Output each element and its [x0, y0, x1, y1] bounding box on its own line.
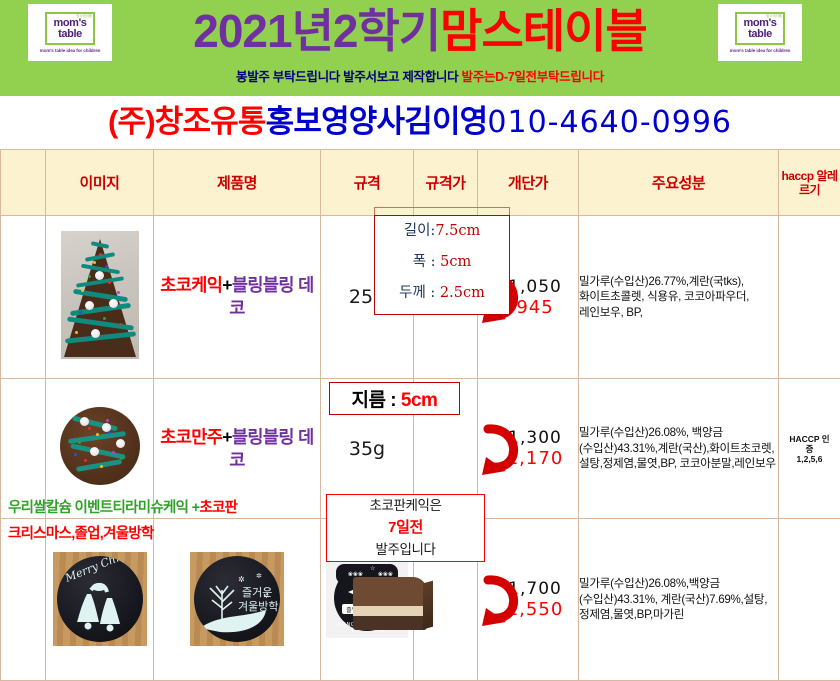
event-caption: 우리쌀칼슘 이벤트티라미슈케익 +초코판 크리스마스,졸업,겨울방학: [8, 495, 320, 547]
moms-table-logo-icon-2: 맘스테이블 mom's table: [735, 12, 785, 45]
svg-text:✲: ✲: [256, 572, 262, 580]
dimension-diameter-value: 5cm: [401, 390, 438, 411]
svg-text:Merry Christmas: Merry Christmas: [62, 556, 143, 585]
dimension-length-key: 길이:: [404, 223, 436, 239]
row1-name-plus: +: [222, 275, 232, 295]
price-down-arrow-icon: [480, 572, 524, 628]
row1-product-name-cell: 초코케익+블링블링 데코: [154, 216, 321, 379]
dimension-width: 폭 : 5cm: [375, 247, 509, 278]
dimension-width-value: 5cm: [440, 254, 471, 270]
event-caption-green: 우리쌀칼슘 이벤트티라미슈케익 +: [8, 500, 199, 516]
row3-unit-price-cell: 1,700 1,550: [478, 519, 579, 681]
dimension-width-key: 폭 :: [413, 254, 440, 270]
bells-icon: Merry Christmas: [57, 556, 143, 642]
order-note-box: 초코판케익은 7일전 발주입니다: [326, 494, 485, 562]
haccp-line1: HACCP 인: [779, 434, 840, 444]
dimension-thickness-value: 2.5cm: [440, 285, 485, 301]
banner-subtitle: 봉발주 부탁드립니다 발주서보고 제작합니다 발주는D-7일전부탁드립니다: [0, 66, 840, 85]
banner-subtitle-warning: 발주는D-7일전부탁드립니다: [462, 70, 604, 84]
row2-price-wrap: 1,300 1,170: [478, 428, 578, 469]
product-image-choco-manju: [60, 407, 140, 485]
table-header-row: 이미지 제품명 규격 규격가 개단가 주요성분 haccp 알레르기: [1, 150, 840, 216]
contact-bar: (주)창조유통홍보영양사김이영010-4640-0996: [0, 96, 840, 149]
logo-line2-2: table: [748, 29, 772, 40]
catalog-page: 맘스테이블 mom's table mom's table idea for c…: [0, 0, 840, 681]
snow-tree-icon: 즐거운 겨울방학 ✲ ✲ ✲ ✲: [194, 556, 280, 642]
row2-unit-price-cell: 1,300 1,170: [478, 379, 579, 519]
row3-ingredients-cell: 밀가루(수입산)26.08%,백양금(수입산)43.31%, 계란(국산)7.6…: [579, 519, 779, 681]
haccp-line2: 증: [779, 444, 840, 454]
th-product-name: 제품명: [154, 150, 321, 216]
svg-text:✲: ✲: [238, 575, 245, 584]
event-caption-line1: 우리쌀칼슘 이벤트티라미슈케익 +초코판: [8, 495, 320, 521]
row1-name-main: 초코케익: [160, 275, 222, 295]
svg-text:✲: ✲: [250, 615, 255, 622]
row1-index-cell: [1, 216, 46, 379]
order-note-line1: 초코판케익은: [327, 495, 484, 517]
th-haccp-allergy: haccp 알레르기: [779, 150, 840, 216]
logo-right: 맘스테이블 mom's table mom's table idea for c…: [718, 4, 802, 61]
row2-haccp-cell: HACCP 인 증 1,2,5,6: [779, 379, 840, 519]
choco-plate-winter-vacation: 즐거운 겨울방학 ✲ ✲ ✲ ✲: [190, 552, 284, 646]
th-unit-price: 개단가: [478, 150, 579, 216]
row2-ingredients-cell: 밀가루(수입산)26.08%, 백양금(수입산)43.31%,계란(국산),화이…: [579, 379, 779, 519]
dimension-diameter: 지름 : 5cm: [352, 385, 438, 412]
haccp-line3: 1,2,5,6: [779, 454, 840, 464]
logo-line1-2: mom's: [743, 18, 776, 29]
company-name: (주)창조유통: [108, 104, 266, 139]
row1-image-cell: [46, 216, 154, 379]
dimension-length: 길이:7.5cm: [375, 216, 509, 247]
row3-haccp-cell: [779, 519, 840, 681]
row1-name-deco: 블링블링 데코: [229, 275, 313, 318]
dimension-thickness-key: 두께 :: [399, 285, 440, 301]
th-spec-price: 규격가: [414, 150, 478, 216]
page-title: 2021년2학기맘스테이블: [0, 3, 840, 59]
th-spec: 규격: [321, 150, 414, 216]
dimension-thickness: 두께 : 2.5cm: [375, 278, 509, 309]
logo-tagline-2: mom's table idea for children: [730, 48, 791, 53]
th-blank: [1, 150, 46, 216]
choco-plate-merry-christmas: Merry Christmas: [53, 552, 147, 646]
row2-name-deco: 블링블링 데코: [229, 427, 313, 470]
contact-phone: 010-4640-0996: [487, 105, 732, 140]
row1-ingredients-cell: 밀가루(수입산)26.77%,계란(국tks), 화이트초콜렛, 식용유, 코코…: [579, 216, 779, 379]
top-banner: 맘스테이블 mom's table mom's table idea for c…: [0, 0, 840, 96]
page-title-term: 2021년2학기: [193, 5, 440, 57]
svg-text:☆: ☆: [370, 565, 375, 572]
banner-subtitle-main: 봉발주 부탁드립니다 발주서보고 제작합니다: [236, 70, 462, 84]
dimension-length-value: 7.5cm: [435, 223, 480, 239]
row3-price-wrap: 1,700 1,550: [478, 579, 578, 620]
row2-name-plus: +: [222, 427, 232, 447]
product-image-choco-cake-tree: [61, 231, 139, 359]
dimension-box-row1: 길이:7.5cm 폭 : 5cm 두께 : 2.5cm: [374, 215, 510, 315]
product-image-tiramisu-wrap: [347, 577, 433, 638]
dimension-diameter-key: 지름 :: [352, 390, 401, 411]
order-note-line3: 발주입니다: [327, 539, 484, 561]
event-caption-red: 초코판: [199, 500, 237, 516]
page-title-brand: 맘스테이블: [440, 5, 647, 57]
product-image-tiramisu: [347, 577, 433, 633]
th-image: 이미지: [46, 150, 154, 216]
svg-text:겨울방학: 겨울방학: [238, 600, 278, 613]
contact-text: (주)창조유통홍보영양사김이영010-4640-0996: [108, 102, 732, 143]
logo-korean-mark-2: 맘스테이블: [766, 13, 782, 18]
dimension-box-row2: 지름 : 5cm: [329, 382, 460, 415]
row2-name-main: 초코만주: [160, 427, 222, 447]
price-down-arrow-icon: [480, 421, 524, 477]
row1-haccp-cell: [779, 216, 840, 379]
event-caption-line2: 크리스마스,졸업,겨울방학: [8, 521, 320, 547]
contact-role: 홍보영양사김이영: [266, 104, 488, 139]
order-note-line2: 7일전: [327, 517, 484, 539]
th-ingredients: 주요성분: [579, 150, 779, 216]
svg-text:✲: ✲: [264, 593, 269, 600]
